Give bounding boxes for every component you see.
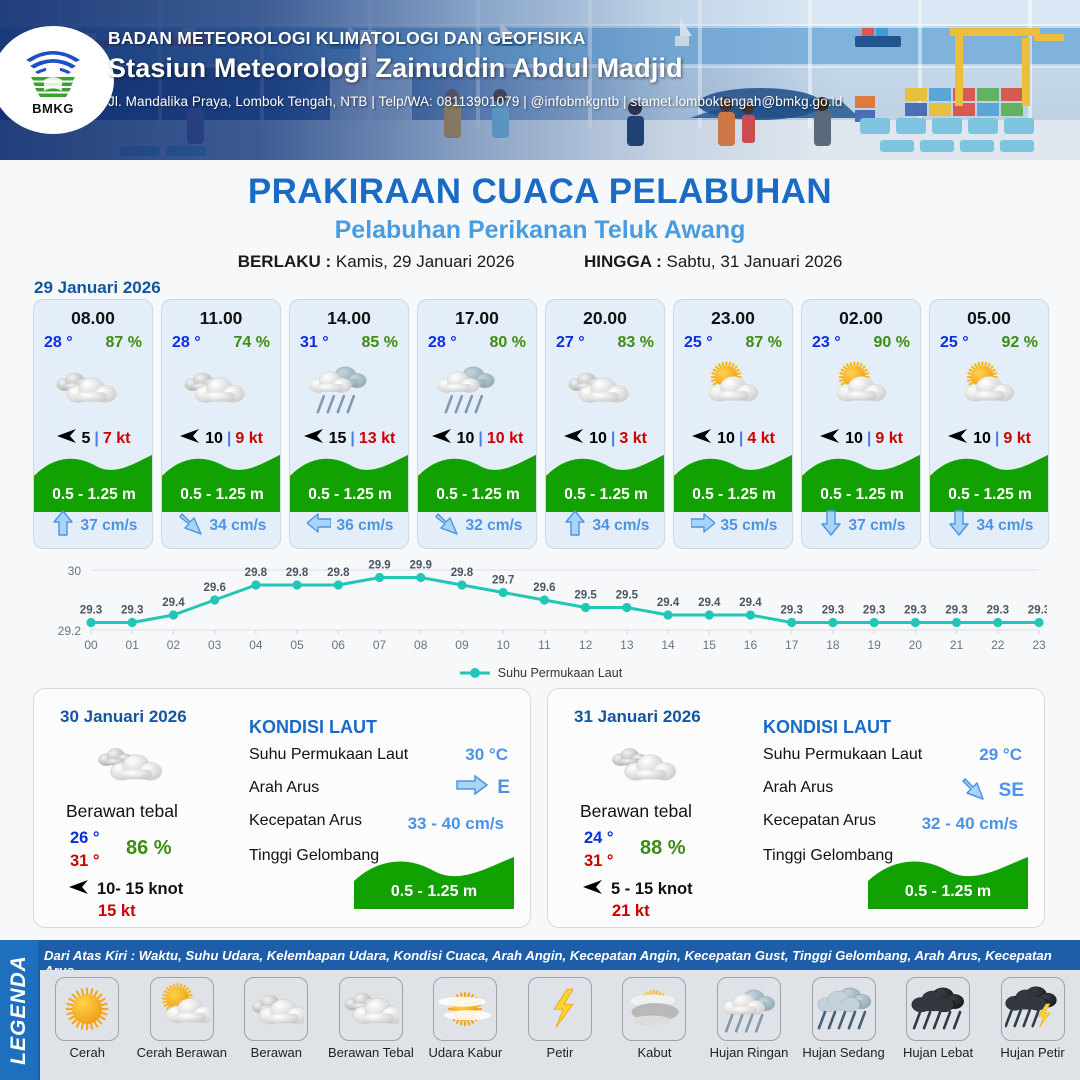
- wind-direction-arrow-icon: [431, 428, 453, 449]
- wind-direction-arrow-icon: [563, 428, 585, 449]
- chart-legend-marker: [458, 667, 492, 679]
- card-wind-speed: 15: [329, 430, 347, 448]
- legend-item-label: Cerah: [70, 1045, 105, 1060]
- svg-text:29.9: 29.9: [410, 560, 432, 572]
- card-humidity: 87 %: [106, 334, 142, 352]
- day-panel-wind-value: 5 - 15 knot: [611, 880, 693, 899]
- chart-legend: Suhu Permukaan Laut: [33, 666, 1047, 680]
- forecast-day-label: 29 Januari 2026: [34, 278, 161, 298]
- svg-text:02: 02: [167, 638, 181, 652]
- card-weather-icon-berawan: [179, 358, 263, 420]
- card-time: 05.00: [967, 308, 1011, 329]
- legend-icon-petir: [528, 977, 592, 1041]
- valid-from-value: Kamis, 29 Januari 2026: [336, 252, 515, 271]
- legend-item: Berawan Tebal: [325, 977, 417, 1060]
- current-direction-arrow-icon: [819, 509, 843, 542]
- svg-text:20: 20: [909, 638, 923, 652]
- svg-text:12: 12: [579, 638, 593, 652]
- svg-text:29.3: 29.3: [781, 605, 803, 617]
- current-direction-text: E: [497, 777, 510, 799]
- page-subtitle: Pelabuhan Perikanan Teluk Awang: [0, 216, 1080, 245]
- svg-text:19: 19: [867, 638, 881, 652]
- label-current-direction: Arah Arus: [763, 779, 833, 797]
- card-wind-row: 10 | 4 kt: [691, 428, 775, 449]
- card-separator: |: [739, 430, 743, 448]
- legend-sidebar: LEGENDA: [0, 940, 38, 1080]
- legend-item: Hujan Lebat: [892, 977, 984, 1060]
- day-panel-wind-value: 10- 15 knot: [97, 880, 183, 899]
- wind-direction-arrow-icon: [582, 879, 604, 900]
- card-time: 17.00: [455, 308, 499, 329]
- svg-text:29.8: 29.8: [245, 567, 268, 579]
- card-wind-speed: 10: [973, 430, 991, 448]
- legend-item-label: Berawan Tebal: [328, 1045, 414, 1060]
- legend-section: LEGENDA Dari Atas Kiri : Waktu, Suhu Uda…: [0, 940, 1080, 1080]
- card-wave-height: 0.5 - 1.25 m: [930, 486, 1049, 504]
- wind-direction-arrow-icon: [179, 428, 201, 449]
- svg-text:29.8: 29.8: [286, 567, 309, 579]
- svg-text:29.4: 29.4: [162, 597, 185, 609]
- svg-text:04: 04: [249, 638, 263, 652]
- card-wave-height: 0.5 - 1.25 m: [290, 486, 409, 504]
- svg-text:29.4: 29.4: [739, 597, 762, 609]
- card-current-speed: 36 cm/s: [337, 517, 394, 535]
- legend-item: Udara Kabur: [419, 977, 511, 1060]
- value-current-speed: 33 - 40 cm/s: [408, 814, 504, 834]
- hourly-forecast-card: 02.00 23 ° 90 % 10 | 9 kt 0.5 - 1.25 m 3…: [801, 299, 921, 549]
- card-wind-speed: 10: [457, 430, 475, 448]
- svg-text:16: 16: [744, 638, 758, 652]
- svg-text:29.3: 29.3: [1028, 605, 1047, 617]
- svg-text:29.3: 29.3: [863, 605, 885, 617]
- svg-text:23: 23: [1032, 638, 1046, 652]
- hourly-forecast-card: 05.00 25 ° 92 % 10 | 9 kt 0.5 - 1.25 m 3…: [929, 299, 1049, 549]
- legend-item-label: Hujan Sedang: [802, 1045, 884, 1060]
- card-separator: |: [94, 430, 98, 448]
- wind-direction-arrow-icon: [947, 428, 969, 449]
- card-separator: |: [350, 430, 354, 448]
- card-separator: |: [611, 430, 615, 448]
- svg-text:29.3: 29.3: [121, 605, 143, 617]
- svg-text:00: 00: [84, 638, 98, 652]
- card-time: 08.00: [71, 308, 115, 329]
- card-current-row: 34 cm/s: [546, 509, 665, 542]
- value-current-direction: SE: [961, 773, 1024, 809]
- chart-legend-label: Suhu Permukaan Laut: [498, 666, 622, 680]
- card-humidity: 83 %: [618, 334, 654, 352]
- svg-text:06: 06: [332, 638, 346, 652]
- header-station-name: Stasiun Meteorologi Zainuddin Abdul Madj…: [108, 53, 1008, 84]
- day-panel-wave-value: 0.5 - 1.25 m: [868, 883, 1028, 901]
- day-panel-condition: Berawan tebal: [580, 801, 692, 822]
- card-current-speed: 37 cm/s: [81, 517, 138, 535]
- wind-direction-arrow-icon: [303, 428, 325, 449]
- label-sst: Suhu Permukaan Laut: [249, 746, 408, 764]
- wind-direction-arrow-icon: [56, 428, 78, 449]
- header-address: Jl. Mandalika Praya, Lombok Tengah, NTB …: [108, 94, 1008, 109]
- current-direction-arrow-icon: [434, 509, 460, 542]
- current-direction-text: SE: [999, 780, 1024, 802]
- current-direction-arrow-icon: [947, 509, 971, 542]
- legend-icon-udara-kabur: [433, 977, 497, 1041]
- legend-item-label: Berawan: [251, 1045, 302, 1060]
- validity-line: BERLAKU : Kamis, 29 Januari 2026 HINGGA …: [0, 252, 1080, 272]
- svg-text:29.5: 29.5: [574, 590, 597, 602]
- bmkg-logo-mark: [22, 44, 84, 100]
- svg-text:17: 17: [785, 638, 799, 652]
- card-gust: 7 kt: [103, 430, 131, 448]
- label-current-direction: Arah Arus: [249, 779, 319, 797]
- legend-icon-cerah-berawan: [150, 977, 214, 1041]
- valid-until-value: Sabtu, 31 Januari 2026: [667, 252, 843, 271]
- svg-text:29.3: 29.3: [80, 605, 102, 617]
- day-panel-date: 31 Januari 2026: [574, 707, 701, 727]
- svg-text:14: 14: [661, 638, 675, 652]
- wind-direction-arrow-icon: [68, 879, 90, 900]
- card-temperature: 28 °: [172, 334, 201, 352]
- day-panel-humidity: 86 %: [126, 837, 172, 860]
- sea-condition-title: KONDISI LAUT: [763, 717, 891, 738]
- legend-icon-kabut: [622, 977, 686, 1041]
- legend-item-label: Cerah Berawan: [137, 1045, 227, 1060]
- legend-icon-cerah: [55, 977, 119, 1041]
- svg-text:11: 11: [538, 638, 551, 652]
- card-wave-height: 0.5 - 1.25 m: [546, 486, 665, 504]
- legend-item-label: Petir: [547, 1045, 574, 1060]
- legend-item-label: Udara Kabur: [429, 1045, 503, 1060]
- bmkg-logo-text: BMKG: [32, 101, 74, 116]
- card-wave-height: 0.5 - 1.25 m: [802, 486, 921, 504]
- svg-text:30: 30: [68, 564, 82, 578]
- card-current-row: 37 cm/s: [34, 509, 153, 542]
- card-gust: 9 kt: [235, 430, 263, 448]
- card-current-row: 34 cm/s: [930, 509, 1049, 542]
- day-panel-weather-icon: [610, 737, 696, 797]
- card-wind-row: 5 | 7 kt: [56, 428, 131, 449]
- hourly-forecast-row: 08.00 28 ° 87 % 5 | 7 kt 0.5 - 1.25 m: [33, 299, 1049, 549]
- header-text-block: BADAN METEOROLOGI KLIMATOLOGI DAN GEOFIS…: [108, 28, 1008, 109]
- day-panel-weather-icon: [96, 737, 182, 797]
- value-current-direction: E: [455, 773, 510, 803]
- legend-icon-hujan-sedang: [812, 977, 876, 1041]
- svg-text:29.7: 29.7: [492, 575, 514, 587]
- card-wind-speed: 10: [717, 430, 735, 448]
- label-current-speed: Kecepatan Arus: [763, 812, 876, 830]
- value-sst: 29 °C: [979, 745, 1022, 765]
- card-wind-row: 10 | 9 kt: [179, 428, 263, 449]
- svg-text:08: 08: [414, 638, 428, 652]
- day-panel-wave-value: 0.5 - 1.25 m: [354, 883, 514, 901]
- card-wind-speed: 10: [589, 430, 607, 448]
- wind-direction-arrow-icon: [691, 428, 713, 449]
- card-current-speed: 34 cm/s: [593, 517, 650, 535]
- card-humidity: 90 %: [874, 334, 910, 352]
- card-wind-row: 10 | 9 kt: [947, 428, 1031, 449]
- card-current-speed: 35 cm/s: [721, 517, 778, 535]
- valid-from-label: BERLAKU :: [238, 252, 332, 271]
- legend-item-label: Kabut: [637, 1045, 671, 1060]
- day-panel-gust: 21 kt: [612, 902, 650, 921]
- legend-title: LEGENDA: [7, 955, 31, 1065]
- svg-text:10: 10: [496, 638, 510, 652]
- card-temperature: 28 °: [44, 334, 73, 352]
- day-panel-31: 31 Januari 2026 Berawan tebal 24 ° 31 ° …: [547, 688, 1045, 928]
- card-wave-height: 0.5 - 1.25 m: [162, 486, 281, 504]
- card-gust: 4 kt: [747, 430, 775, 448]
- svg-text:01: 01: [126, 638, 140, 652]
- svg-text:05: 05: [290, 638, 304, 652]
- hourly-forecast-card: 08.00 28 ° 87 % 5 | 7 kt 0.5 - 1.25 m: [33, 299, 153, 549]
- svg-text:09: 09: [455, 638, 469, 652]
- legend-item: Hujan Sedang: [798, 977, 890, 1060]
- card-temperature: 28 °: [428, 334, 457, 352]
- card-separator: |: [995, 430, 999, 448]
- card-temperature: 23 °: [812, 334, 841, 352]
- value-current-speed: 32 - 40 cm/s: [922, 814, 1018, 834]
- legend-item: Berawan: [230, 977, 322, 1060]
- svg-text:29.2: 29.2: [58, 624, 82, 638]
- card-wave-height: 0.5 - 1.25 m: [34, 486, 153, 504]
- card-wave-height: 0.5 - 1.25 m: [674, 486, 793, 504]
- hourly-forecast-card: 14.00 31 ° 85 % 15 | 13 kt 0.5 - 1.25 m: [289, 299, 409, 549]
- svg-text:21: 21: [950, 638, 964, 652]
- legend-icon-hujan-petir: [1001, 977, 1065, 1041]
- current-direction-arrow-icon: [961, 773, 991, 809]
- current-direction-arrow-icon: [178, 509, 204, 542]
- card-current-row: 34 cm/s: [162, 509, 281, 542]
- hourly-forecast-card: 20.00 27 ° 83 % 10 | 3 kt 0.5 - 1.25 m: [545, 299, 665, 549]
- card-weather-icon-cerah-berawan: [819, 358, 903, 420]
- svg-text:29.3: 29.3: [945, 605, 967, 617]
- header-banner: BMKG BADAN METEOROLOGI KLIMATOLOGI DAN G…: [0, 0, 1080, 160]
- card-separator: |: [867, 430, 871, 448]
- legend-item: Hujan Ringan: [703, 977, 795, 1060]
- page-title: PRAKIRAAN CUACA PELABUHAN: [0, 172, 1080, 212]
- svg-text:29.4: 29.4: [698, 597, 721, 609]
- sea-surface-temperature-chart: 3029.229.30029.30129.40229.60329.80429.8…: [33, 558, 1047, 683]
- day-panel-temp-max: 31 °: [584, 852, 614, 871]
- card-wind-row: 10 | 10 kt: [431, 428, 524, 449]
- card-wind-speed: 10: [845, 430, 863, 448]
- legend-icon-hujan-lebat: [906, 977, 970, 1041]
- legend-item-label: Hujan Petir: [1000, 1045, 1064, 1060]
- card-current-speed: 37 cm/s: [849, 517, 906, 535]
- card-wind-speed: 10: [205, 430, 223, 448]
- wind-direction-arrow-icon: [819, 428, 841, 449]
- card-time: 20.00: [583, 308, 627, 329]
- card-weather-icon-hujan-ringan: [307, 358, 391, 420]
- legend-item: Hujan Petir: [987, 977, 1079, 1060]
- legend-item: Cerah Berawan: [136, 977, 228, 1060]
- day-panel-date: 30 Januari 2026: [60, 707, 187, 727]
- card-humidity: 87 %: [746, 334, 782, 352]
- card-weather-icon-cerah-berawan: [691, 358, 775, 420]
- legend-icon-berawan-tebal: [339, 977, 403, 1041]
- label-current-speed: Kecepatan Arus: [249, 812, 362, 830]
- card-humidity: 92 %: [1002, 334, 1038, 352]
- sea-condition-title: KONDISI LAUT: [249, 717, 377, 738]
- card-temperature: 27 °: [556, 334, 585, 352]
- card-current-speed: 34 cm/s: [210, 517, 267, 535]
- svg-text:29.6: 29.6: [203, 582, 225, 594]
- svg-text:29.4: 29.4: [657, 597, 680, 609]
- hourly-forecast-card: 17.00 28 ° 80 % 10 | 10 kt 0.5 - 1.25 m: [417, 299, 537, 549]
- svg-text:18: 18: [826, 638, 840, 652]
- legend-icon-berawan: [244, 977, 308, 1041]
- card-humidity: 80 %: [490, 334, 526, 352]
- valid-until-label: HINGGA :: [584, 252, 662, 271]
- legend-item: Kabut: [608, 977, 700, 1060]
- day-panel-humidity: 88 %: [640, 837, 686, 860]
- card-current-row: 32 cm/s: [418, 509, 537, 542]
- value-sst: 30 °C: [465, 745, 508, 765]
- card-weather-icon-berawan: [563, 358, 647, 420]
- svg-text:29.8: 29.8: [327, 567, 350, 579]
- card-wind-row: 10 | 3 kt: [563, 428, 647, 449]
- card-temperature: 25 °: [684, 334, 713, 352]
- svg-text:13: 13: [620, 638, 634, 652]
- card-gust: 3 kt: [619, 430, 647, 448]
- card-wind-row: 10 | 9 kt: [819, 428, 903, 449]
- day-panel-condition: Berawan tebal: [66, 801, 178, 822]
- card-separator: |: [227, 430, 231, 448]
- svg-text:29.3: 29.3: [822, 605, 844, 617]
- card-temperature: 25 °: [940, 334, 969, 352]
- card-humidity: 85 %: [362, 334, 398, 352]
- label-sst: Suhu Permukaan Laut: [763, 746, 922, 764]
- svg-text:22: 22: [991, 638, 1005, 652]
- svg-text:03: 03: [208, 638, 222, 652]
- day-panel-gust: 15 kt: [98, 902, 136, 921]
- card-gust: 10 kt: [487, 430, 523, 448]
- card-gust: 9 kt: [875, 430, 903, 448]
- current-direction-arrow-icon: [455, 773, 489, 803]
- svg-text:29.9: 29.9: [368, 560, 390, 572]
- legend-icon-row: Cerah Cerah Berawan Berawan Berawan Teba…: [40, 970, 1080, 1080]
- card-current-speed: 32 cm/s: [466, 517, 523, 535]
- card-gust: 13 kt: [359, 430, 395, 448]
- card-time: 23.00: [711, 308, 755, 329]
- card-wind-row: 15 | 13 kt: [303, 428, 396, 449]
- svg-text:29.3: 29.3: [987, 605, 1009, 617]
- card-weather-icon-berawan: [51, 358, 135, 420]
- hourly-forecast-card: 23.00 25 ° 87 % 10 | 4 kt 0.5 - 1.25 m 3…: [673, 299, 793, 549]
- day-panel-wind: 10- 15 knot: [68, 879, 183, 900]
- card-humidity: 74 %: [234, 334, 270, 352]
- day-panel-30: 30 Januari 2026 Berawan tebal 26 ° 31 ° …: [33, 688, 531, 928]
- card-current-row: 35 cm/s: [674, 509, 793, 542]
- legend-item: Cerah: [41, 977, 133, 1060]
- current-direction-arrow-icon: [307, 509, 331, 542]
- card-time: 11.00: [200, 308, 243, 329]
- card-weather-icon-cerah-berawan: [947, 358, 1031, 420]
- day-panel-temp-min: 24 °: [584, 829, 614, 848]
- svg-text:29.3: 29.3: [904, 605, 926, 617]
- day-panel-temp-max: 31 °: [70, 852, 100, 871]
- card-wind-speed: 5: [82, 430, 91, 448]
- svg-text:29.6: 29.6: [533, 582, 555, 594]
- day-panel-temp-min: 26 °: [70, 829, 100, 848]
- legend-icon-hujan-ringan: [717, 977, 781, 1041]
- card-time: 14.00: [327, 308, 371, 329]
- day-panel-wind: 5 - 15 knot: [582, 879, 693, 900]
- card-gust: 9 kt: [1003, 430, 1031, 448]
- card-current-row: 37 cm/s: [802, 509, 921, 542]
- card-current-speed: 34 cm/s: [977, 517, 1034, 535]
- hourly-forecast-card: 11.00 28 ° 74 % 10 | 9 kt 0.5 - 1.25 m: [161, 299, 281, 549]
- card-temperature: 31 °: [300, 334, 329, 352]
- svg-text:15: 15: [703, 638, 717, 652]
- svg-text:29.8: 29.8: [451, 567, 474, 579]
- card-wave-height: 0.5 - 1.25 m: [418, 486, 537, 504]
- card-time: 02.00: [839, 308, 883, 329]
- legend-item: Petir: [514, 977, 606, 1060]
- card-separator: |: [478, 430, 482, 448]
- current-direction-arrow-icon: [691, 509, 715, 542]
- card-current-row: 36 cm/s: [290, 509, 409, 542]
- card-weather-icon-hujan-ringan: [435, 358, 519, 420]
- current-direction-arrow-icon: [51, 509, 75, 542]
- legend-item-label: Hujan Ringan: [710, 1045, 789, 1060]
- current-direction-arrow-icon: [563, 509, 587, 542]
- header-organization: BADAN METEOROLOGI KLIMATOLOGI DAN GEOFIS…: [108, 28, 1008, 49]
- legend-item-label: Hujan Lebat: [903, 1045, 973, 1060]
- svg-text:07: 07: [373, 638, 387, 652]
- svg-text:29.5: 29.5: [616, 590, 639, 602]
